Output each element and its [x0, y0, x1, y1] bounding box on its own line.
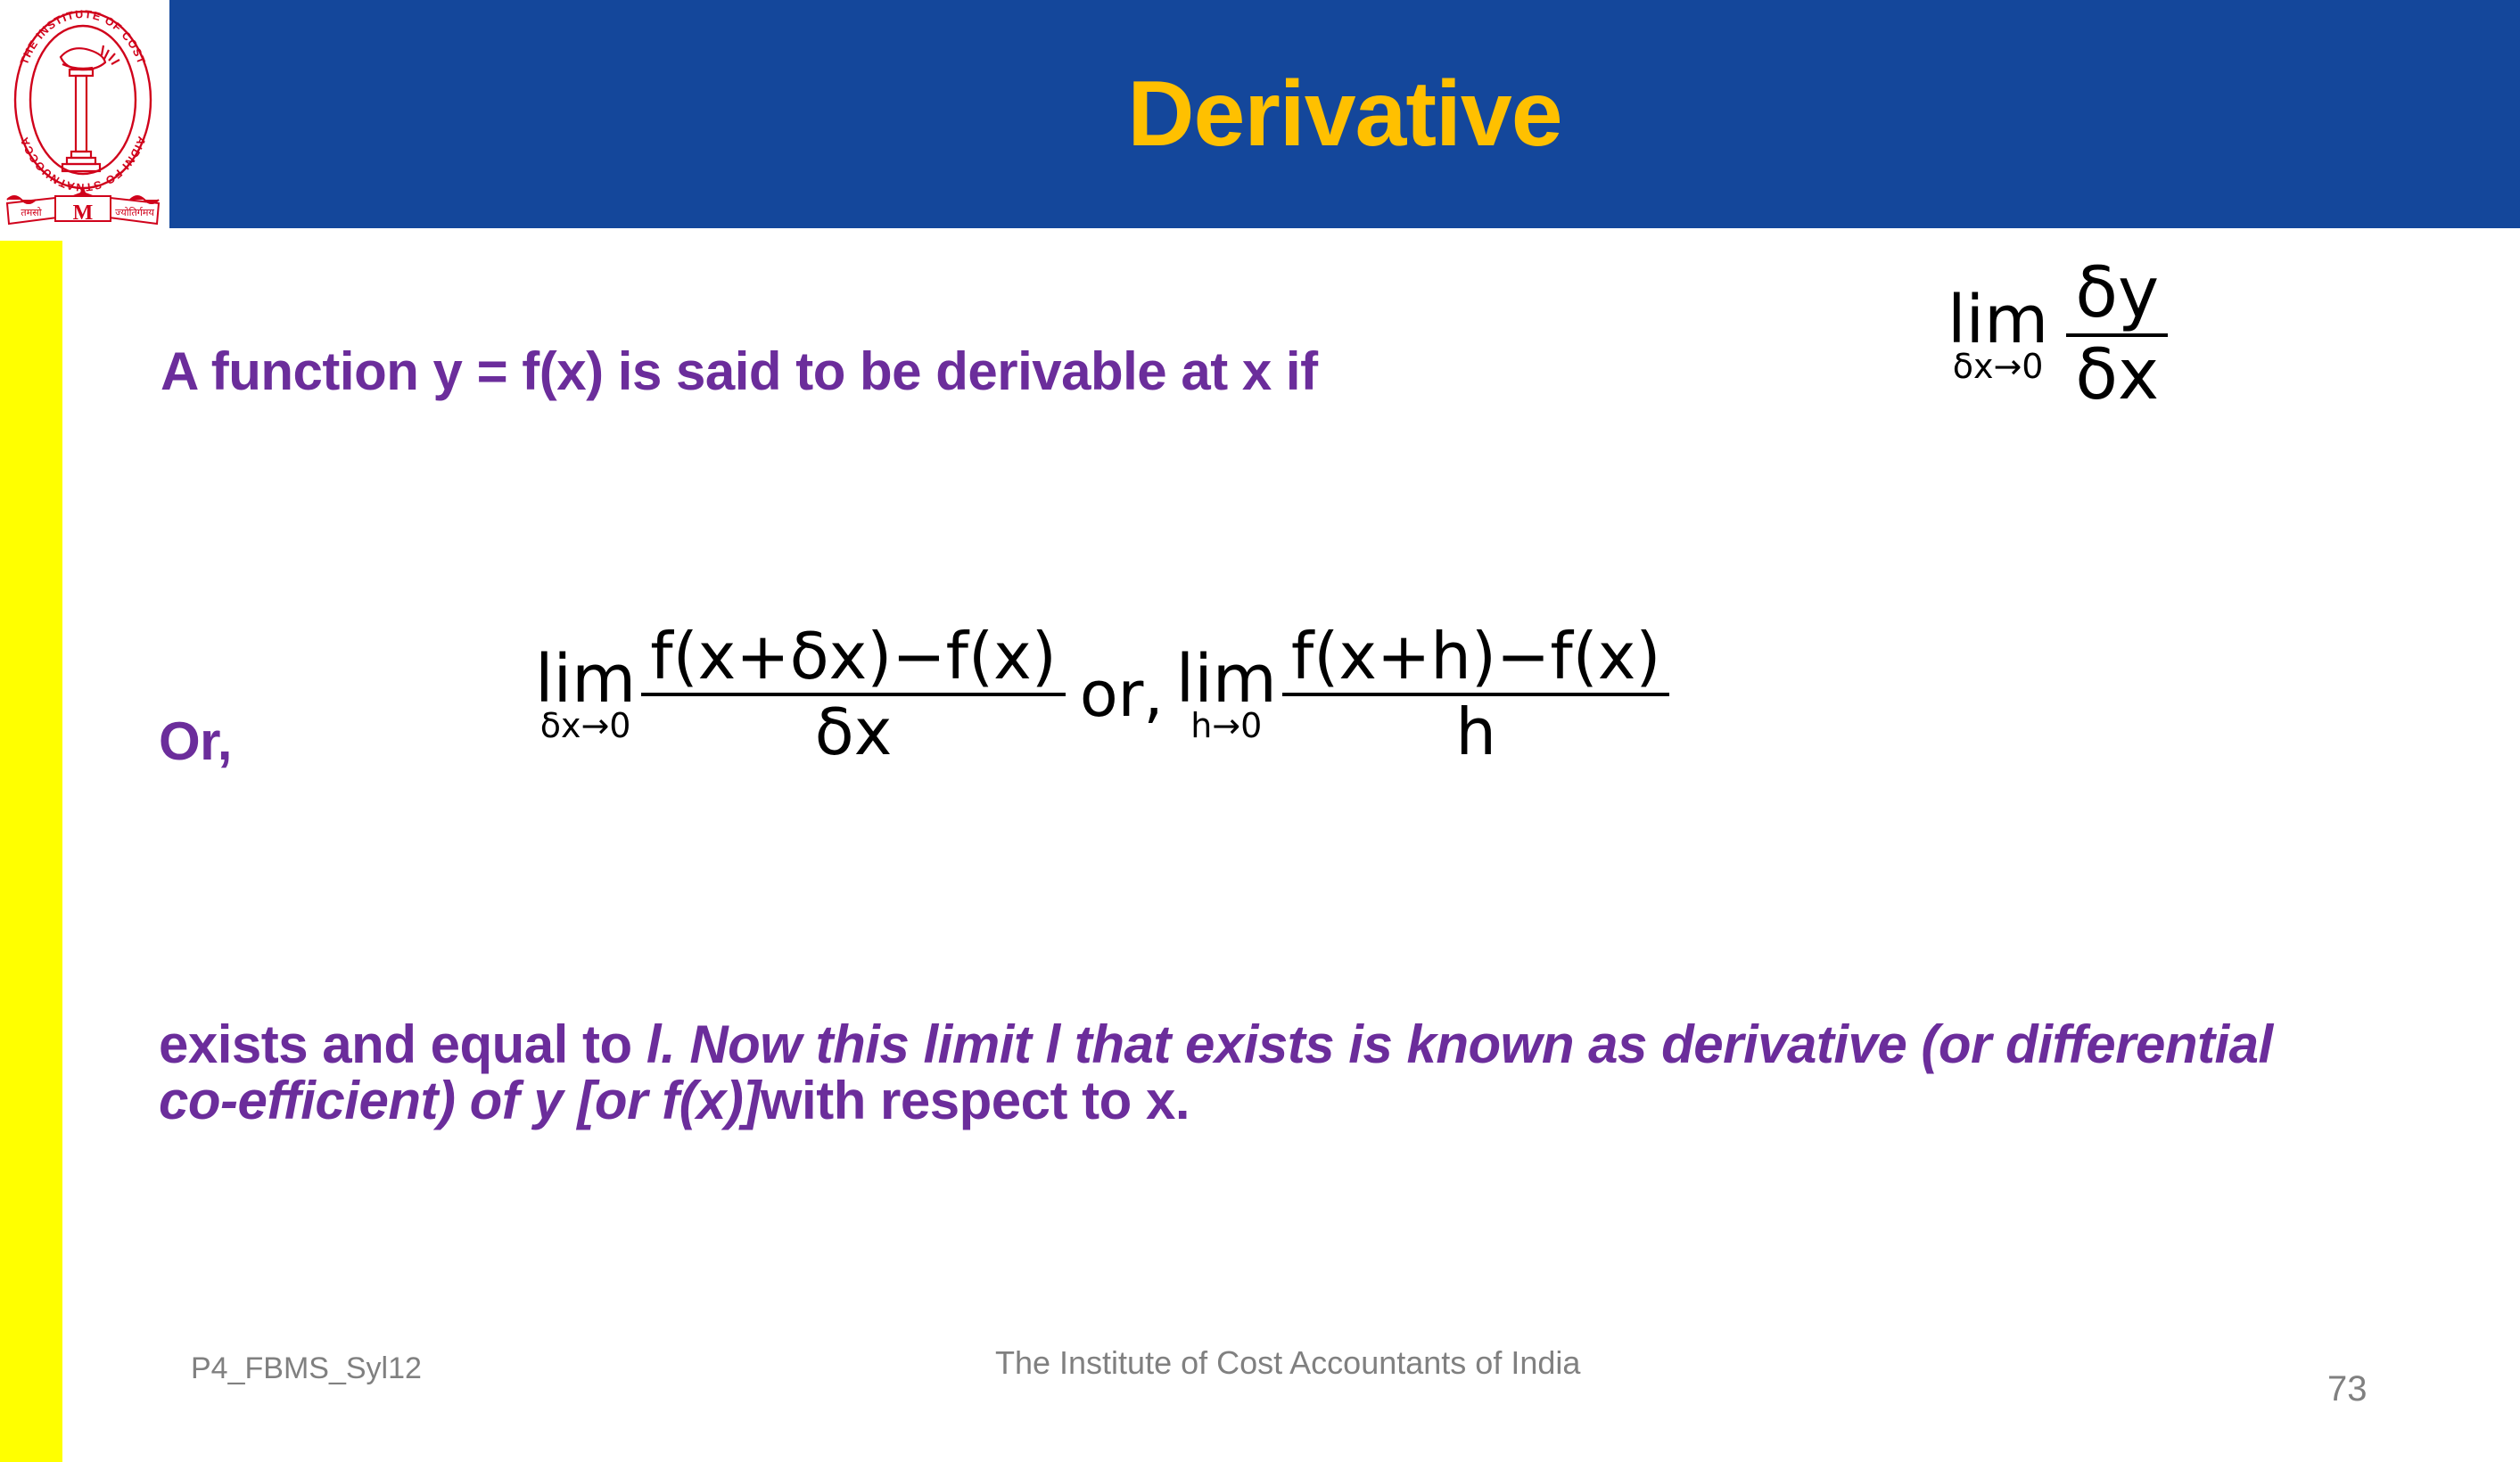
fraction-dy-dx: δy δx — [2066, 259, 2168, 411]
fraction-denominator: h — [1446, 700, 1505, 765]
slide-canvas: Derivative THE INSTITUTE OF COST AIDNI F… — [0, 0, 2520, 1462]
limit-subscript: δx→0 — [540, 709, 631, 743]
or-label: Or, — [159, 713, 232, 769]
closing-paragraph: exists and equal to l. Now this limit l … — [159, 1016, 2317, 1129]
fraction-denominator: δx — [806, 700, 902, 765]
svg-text:M: M — [73, 201, 94, 225]
svg-text:तमसो: तमसो — [21, 207, 41, 218]
fraction-numerator: f(x+h)−f(x) — [1282, 624, 1670, 689]
left-accent-bar — [0, 241, 62, 1462]
limit-expression-dy-dx: lim δx→0 δy δx — [1948, 259, 2173, 411]
limit-operator-right: lim h→0 — [1176, 646, 1277, 743]
page-title: Derivative — [169, 9, 2520, 219]
footer-institute-name: The Institute of Cost Accountants of Ind… — [995, 1344, 1580, 1382]
limit-op-label: lim — [1948, 287, 2048, 353]
fraction-numerator: f(x+δx)−f(x) — [641, 624, 1066, 689]
header-band: Derivative — [169, 0, 2520, 228]
fraction-numerator: δy — [2066, 259, 2168, 330]
limit-op-label: lim — [535, 646, 636, 712]
limit-subscript: δx→0 — [1953, 349, 2044, 383]
limit-operator-left: lim δx→0 — [535, 646, 636, 743]
footer-page-number: 73 — [2327, 1369, 2368, 1409]
paragraph-lead: exists and equal to — [159, 1014, 646, 1074]
fraction-h-quotient: f(x+h)−f(x) h — [1282, 624, 1670, 766]
limit-op-label: lim — [1176, 646, 1277, 712]
equation-connector: or, — [1080, 658, 1164, 731]
fraction-delta-quotient: f(x+δx)−f(x) δx — [641, 624, 1066, 766]
equation-row: lim δx→0 f(x+δx)−f(x) δx or, lim h→0 f(x… — [535, 624, 1675, 766]
limit-operator: lim δx→0 — [1948, 287, 2048, 383]
svg-text:THE INSTITUTE OF COST: THE INSTITUTE OF COST — [18, 8, 148, 67]
limit-subscript: h→0 — [1190, 709, 1262, 743]
institute-logo: THE INSTITUTE OF COST AIDNI FO STNATNUOC… — [4, 2, 162, 226]
statement-line-1: A function y = f(x) is said to be deriva… — [161, 343, 1318, 399]
paragraph-tail: with respect to x. — [761, 1071, 1190, 1130]
footer-course-code: P4_FBMS_Syl12 — [191, 1351, 422, 1386]
svg-text:ज्योतिर्गमय: ज्योतिर्गमय — [115, 207, 154, 218]
fraction-denominator: δx — [2066, 341, 2168, 412]
